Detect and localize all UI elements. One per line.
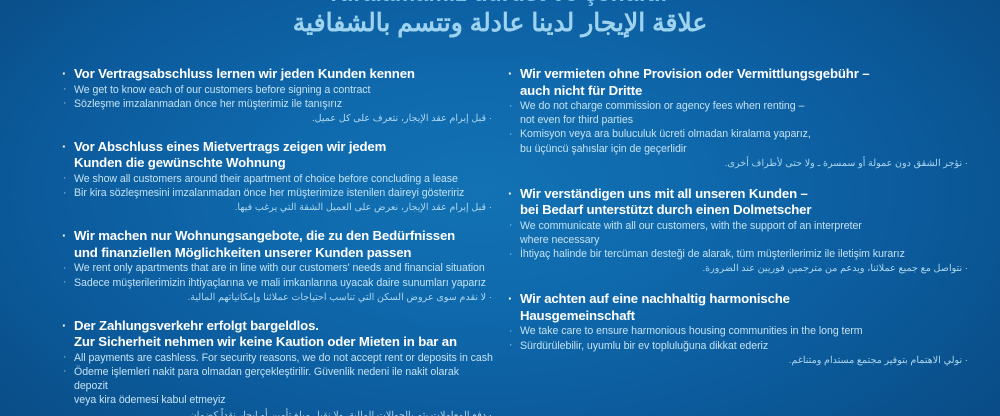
principle-turkish-cont: veya kira ödemesi kabul etmeyiz — [62, 393, 494, 407]
principle-block: ·Vor Vertragsabschluss lernen wir jeden … — [62, 66, 494, 125]
principle-heading: ·Wir achten auf eine nachhaltig harmonis… — [508, 291, 972, 308]
bullet-dot-icon: · — [62, 66, 66, 83]
principle-turkish-cont: bu üçüncü şahıslar için de geçerlidir — [508, 142, 972, 156]
principle-english: ·We communicate with all our customers, … — [508, 219, 972, 233]
principle-block: ·Wir machen nur Wohnungsangebote, die zu… — [62, 228, 494, 303]
principle-english-cont: where necessary — [508, 233, 972, 247]
slide-root: Kiralamamız dürüst ve şeffaftır علاقة ال… — [0, 0, 1000, 416]
bullet-dot-icon: · — [63, 364, 66, 378]
principle-english: ·All payments are cashless. For security… — [62, 351, 494, 365]
bullet-dot-icon: · — [62, 139, 66, 156]
bullet-dot-icon: · — [63, 82, 66, 96]
column-right: ·Wir vermieten ohne Provision oder Vermi… — [500, 66, 1000, 416]
bullet-dot-icon: · — [63, 171, 66, 185]
principle-turkish: ·Komisyon veya ara buluculuk ücreti olma… — [508, 127, 972, 141]
principle-arabic: · نتواصل مع جميع عملائنا، ويدعم من مترجم… — [508, 262, 972, 275]
principle-heading-cont: Hausgemeinschaft — [508, 308, 972, 325]
bullet-dot-icon: · — [63, 96, 66, 110]
principle-heading: ·Vor Abschluss eines Mietvertrags zeigen… — [62, 139, 494, 156]
principle-heading: ·Wir verständigen uns mit all unseren Ku… — [508, 186, 972, 203]
bullet-dot-icon: · — [63, 186, 66, 200]
principle-block: ·Der Zahlungsverkehr erfolgt bargeldlos.… — [62, 318, 494, 416]
principle-block: ·Wir verständigen uns mit all unseren Ku… — [508, 186, 972, 276]
principle-english-cont: not even for third parties — [508, 113, 972, 127]
principle-turkish: ·İhtiyaç halinde bir tercüman desteği de… — [508, 247, 972, 261]
principle-block: ·Wir vermieten ohne Provision oder Vermi… — [508, 66, 972, 170]
bullet-dot-icon: · — [63, 261, 66, 275]
bullet-dot-icon: · — [62, 228, 66, 245]
principle-turkish: ·Sadece müşterilerimizin ihtiyaçlarına v… — [62, 276, 494, 290]
bullet-dot-icon: · — [62, 318, 66, 335]
principle-english: ·We do not charge commission or agency f… — [508, 99, 972, 113]
slide-headline: Kiralamamız dürüst ve şeffaftır علاقة ال… — [0, 0, 1000, 38]
principle-turkish: ·Sözleşme imzalanmadan önce her müşterim… — [62, 97, 494, 111]
headline-arabic: علاقة الإيجار لدينا عادلة وتتسم بالشفافي… — [0, 8, 1000, 38]
principle-arabic: · لا نقدم سوى عروض السكن التي تناسب احتي… — [62, 291, 494, 304]
bullet-dot-icon: · — [509, 99, 512, 113]
principle-block: ·Wir achten auf eine nachhaltig harmonis… — [508, 291, 972, 366]
bullet-dot-icon: · — [508, 66, 512, 83]
principle-heading: ·Wir vermieten ohne Provision oder Vermi… — [508, 66, 972, 83]
principle-arabic: · دفع المعاملات يتم بالحوالات المالية، و… — [62, 409, 494, 416]
principle-arabic: · قبل إبرام عقد الإيجار، نعرض على العميل… — [62, 201, 494, 214]
principle-arabic: · قبل إبرام عقد الإيجار، نتعرف على كل عم… — [62, 112, 494, 125]
bullet-dot-icon: · — [63, 275, 66, 289]
content-columns: ·Vor Vertragsabschluss lernen wir jeden … — [0, 66, 1000, 416]
principle-arabic: · نولي الاهتمام بتوفير مجتمع مستدام ومتن… — [508, 354, 972, 367]
principle-heading-cont: bei Bedarf unterstützt durch einen Dolme… — [508, 202, 972, 219]
principle-block: ·Vor Abschluss eines Mietvertrags zeigen… — [62, 139, 494, 214]
bullet-dot-icon: · — [509, 247, 512, 261]
bullet-dot-icon: · — [63, 350, 66, 364]
principle-heading-cont: auch nicht für Dritte — [508, 83, 972, 100]
principle-heading-cont: und finanziellen Möglichkeiten unserer K… — [62, 245, 494, 262]
principle-heading-cont: Zur Sicherheit nehmen wir keine Kaution … — [62, 334, 494, 351]
headline-turkish: Kiralamamız dürüst ve şeffaftır — [0, 0, 1000, 6]
bullet-dot-icon: · — [509, 324, 512, 338]
principle-turkish: ·Ödeme işlemleri nakit para olmadan gerç… — [62, 365, 494, 393]
column-left: ·Vor Vertragsabschluss lernen wir jeden … — [0, 66, 500, 416]
principle-arabic: · نؤجر الشقق دون عمولة أو سمسرة ـ ولا حت… — [508, 157, 972, 170]
principle-turkish: ·Bir kira sözleşmesini imzalanmadan önce… — [62, 186, 494, 200]
principle-heading: ·Der Zahlungsverkehr erfolgt bargeldlos. — [62, 318, 494, 335]
principle-english: ·We get to know each of our customers be… — [62, 83, 494, 97]
bullet-dot-icon: · — [509, 127, 512, 141]
bullet-dot-icon: · — [509, 338, 512, 352]
principle-english: ·We rent only apartments that are in lin… — [62, 261, 494, 275]
principle-english: ·We show all customers around their apar… — [62, 172, 494, 186]
principle-english: ·We take care to ensure harmonious housi… — [508, 324, 972, 338]
bullet-dot-icon: · — [508, 186, 512, 203]
bullet-dot-icon: · — [509, 218, 512, 232]
principle-heading: ·Vor Vertragsabschluss lernen wir jeden … — [62, 66, 494, 83]
principle-heading-cont: Kunden die gewünschte Wohnung — [62, 155, 494, 172]
principle-turkish: ·Sürdürülebilir, uyumlu bir ev topluluğu… — [508, 339, 972, 353]
bullet-dot-icon: · — [508, 291, 512, 308]
principle-heading: ·Wir machen nur Wohnungsangebote, die zu… — [62, 228, 494, 245]
